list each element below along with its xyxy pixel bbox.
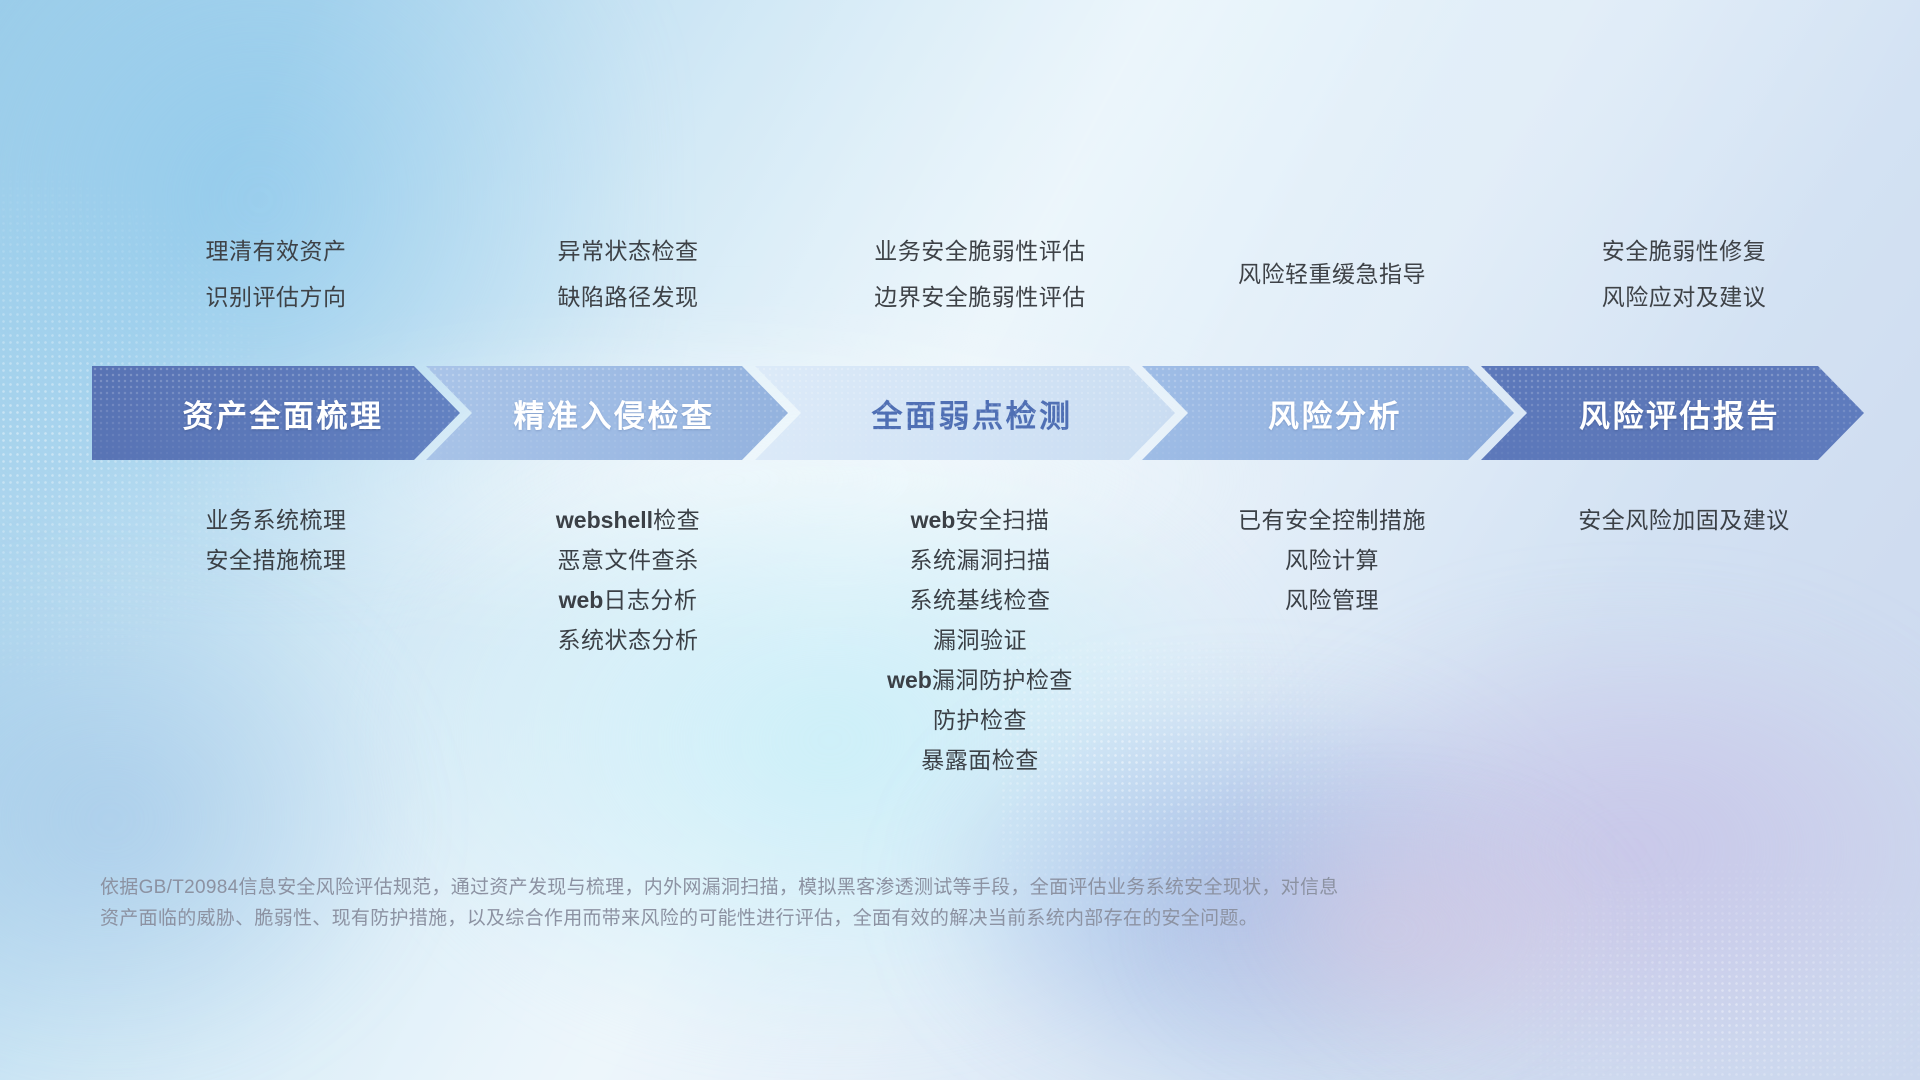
stage-title: 风险评估报告 [1565, 391, 1780, 436]
stage-inputs-1: 理清有效资产 识别评估方向 [100, 228, 452, 320]
stage-chevron-weakness-detection[interactable]: 全面弱点检测 [755, 366, 1175, 460]
stage-input-label: 异常状态检查 [452, 228, 804, 274]
stage-inputs-5: 安全脆弱性修复 风险应对及建议 [1508, 228, 1860, 320]
stage-input-label: 风险轻重缓急指导 [1156, 251, 1508, 297]
stage-title: 风险分析 [1254, 391, 1402, 436]
stage-title: 全面弱点检测 [858, 391, 1073, 436]
stage-output-label: 业务系统梳理 [100, 500, 452, 540]
stage-outputs-2: webshell检查 恶意文件查杀 web日志分析 系统状态分析 [452, 500, 804, 660]
stage-output-label: webshell检查 [452, 500, 804, 540]
stage-title: 资产全面梳理 [169, 391, 384, 436]
stage-output-label-tail: 检查 [653, 507, 700, 533]
stage-output-label: 防护检查 [804, 700, 1156, 740]
stage-input-label: 风险应对及建议 [1508, 274, 1860, 320]
footer-paragraph: 依据GB/T20984信息安全风险评估规范，通过资产发现与梳理，内外网漏洞扫描，… [100, 872, 1660, 934]
process-flow-infographic: 理清有效资产 识别评估方向 异常状态检查 缺陷路径发现 业务安全脆弱性评估 边界… [0, 0, 1920, 1080]
stage-output-label: 系统漏洞扫描 [804, 540, 1156, 580]
stage-output-label: 系统状态分析 [452, 620, 804, 660]
stage-output-label: 风险管理 [1156, 580, 1508, 620]
stage-output-label-tail: 漏洞防护检查 [932, 667, 1073, 693]
stage-chevron-risk-analysis[interactable]: 风险分析 [1142, 366, 1514, 460]
stage-inputs-2: 异常状态检查 缺陷路径发现 [452, 228, 804, 320]
stage-output-label: web漏洞防护检查 [804, 660, 1156, 700]
stage-output-label: 暴露面检查 [804, 740, 1156, 780]
stage-title: 精准入侵检查 [500, 391, 715, 436]
stage-outputs-1: 业务系统梳理 安全措施梳理 [100, 500, 452, 580]
stage-output-label: 漏洞验证 [804, 620, 1156, 660]
stage-chevron-asset-inventory[interactable]: 资产全面梳理 [92, 366, 460, 460]
stage-inputs-4: 风险轻重缓急指导 [1156, 228, 1508, 297]
stage-output-label: web日志分析 [452, 580, 804, 620]
stage-output-label: web安全扫描 [804, 500, 1156, 540]
stage-input-label: 安全脆弱性修复 [1508, 228, 1860, 274]
stage-output-label: 风险计算 [1156, 540, 1508, 580]
stage-outputs-5: 安全风险加固及建议 [1508, 500, 1860, 540]
stage-input-label: 理清有效资产 [100, 228, 452, 274]
stage-input-label: 缺陷路径发现 [452, 274, 804, 320]
stage-input-label: 业务安全脆弱性评估 [804, 228, 1156, 274]
stage-output-label: 系统基线检查 [804, 580, 1156, 620]
chevron-band: 资产全面梳理 精准入侵检查 全面弱点检测 风险分析 风险评估报告 [92, 366, 1864, 460]
stage-output-label: 已有安全控制措施 [1156, 500, 1508, 540]
footer-description: 依据GB/T20984信息安全风险评估规范，通过资产发现与梳理，内外网漏洞扫描，… [100, 872, 1660, 934]
stage-chevron-intrusion-check[interactable]: 精准入侵检查 [426, 366, 788, 460]
stage-input-label: 边界安全脆弱性评估 [804, 274, 1156, 320]
stage-outputs-4: 已有安全控制措施 风险计算 风险管理 [1156, 500, 1508, 620]
stage-outputs-row: 业务系统梳理 安全措施梳理 webshell检查 恶意文件查杀 web日志分析 … [100, 500, 1860, 780]
stage-chevron-risk-report[interactable]: 风险评估报告 [1481, 366, 1864, 460]
stage-inputs-row: 理清有效资产 识别评估方向 异常状态检查 缺陷路径发现 业务安全脆弱性评估 边界… [100, 228, 1860, 320]
stage-outputs-3: web安全扫描 系统漏洞扫描 系统基线检查 漏洞验证 web漏洞防护检查 防护检… [804, 500, 1156, 780]
stage-output-label-tail: 日志分析 [603, 587, 697, 613]
stage-input-label: 识别评估方向 [100, 274, 452, 320]
stage-output-label: 安全措施梳理 [100, 540, 452, 580]
stage-output-label: 恶意文件查杀 [452, 540, 804, 580]
stage-output-label: 安全风险加固及建议 [1508, 500, 1860, 540]
stage-output-label-tail: 安全扫描 [955, 507, 1049, 533]
stage-inputs-3: 业务安全脆弱性评估 边界安全脆弱性评估 [804, 228, 1156, 320]
